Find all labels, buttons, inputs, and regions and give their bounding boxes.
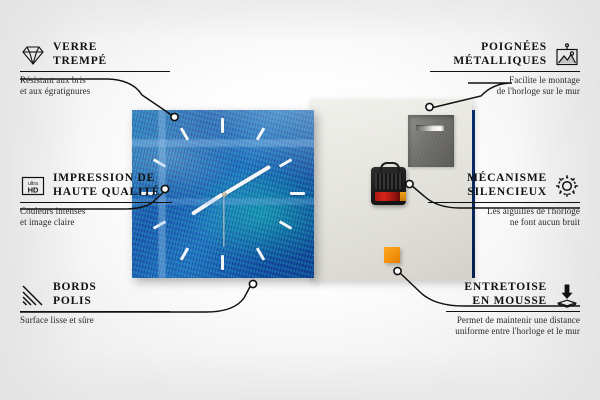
gear-icon [554, 173, 580, 199]
callout-verre-trempe[interactable]: VERRE TREMPÉ Résistant aux bris et aux é… [20, 41, 170, 96]
callout-title-line: SILENCIEUX [467, 186, 547, 198]
callout-title-line: MÉCANISME [467, 172, 547, 184]
callout-subtitle-line: Surface lisse et sûre [20, 315, 94, 325]
callout-subtitle-line: ne font aucun bruit [510, 217, 580, 227]
callout-subtitle-line: et image claire [20, 217, 74, 227]
clock-hands-hub [222, 192, 227, 197]
callout-title-line: VERRE [53, 41, 97, 53]
callout-title-line: MÉTALLIQUES [453, 55, 547, 67]
callout-title-line: EN MOUSSE [472, 295, 547, 307]
callout-title-line: BORDS [53, 281, 97, 293]
aa-battery [375, 192, 401, 201]
clock-tick [221, 118, 224, 133]
clock-tick [180, 127, 190, 141]
mechanism-body-detail [375, 173, 402, 189]
callout-divider [428, 202, 580, 203]
product-photo [132, 99, 472, 281]
callout-title-line: POIGNÉES [481, 41, 547, 53]
callout-poignees-metalliques[interactable]: POIGNÉES MÉTALLIQUES Facilite le montage… [430, 41, 580, 96]
clock-tick [221, 255, 224, 270]
callout-divider [20, 311, 170, 312]
callout-divider [446, 311, 580, 312]
infographic-canvas: VERRE TREMPÉ Résistant aux bris et aux é… [0, 0, 600, 400]
callout-subtitle-line: Couleurs intenses [20, 206, 85, 216]
callout-subtitle-line: Facilite le montage [509, 75, 580, 85]
callout-subtitle-line: et aux égratignures [20, 86, 90, 96]
wall-frame-hanger-icon [554, 42, 580, 68]
callout-title-line: IMPRESSION DE [53, 172, 155, 184]
battery-terminal [400, 192, 406, 201]
callout-divider [20, 202, 172, 203]
clock-hour-hand [191, 192, 224, 216]
callout-title-line: TREMPÉ [53, 55, 107, 67]
callout-mecanisme-silencieux[interactable]: MÉCANISME SILENCIEUX Les aiguilles de l'… [428, 172, 580, 227]
clock-tick [180, 247, 190, 261]
callout-subtitle-line: Permet de maintenir une distance [457, 315, 580, 325]
clock-tick [279, 158, 293, 168]
callout-divider [20, 71, 170, 72]
callout-bords-polis[interactable]: BORDS POLIS Surface lisse et sûre [20, 281, 170, 326]
callout-title-line: ENTRETOISE [464, 281, 547, 293]
silent-quartz-mechanism [371, 167, 406, 205]
bracket-slot [416, 125, 444, 131]
callout-subtitle-line: Résistant aux bris [20, 75, 86, 85]
arrow-down-pad-icon [554, 282, 580, 308]
callout-subtitle-line: Les aiguilles de l'horloge [487, 206, 580, 216]
clock-minute-hand [222, 165, 270, 196]
clock-tick [279, 220, 293, 230]
clock-tick [256, 127, 266, 141]
svg-text:HD: HD [28, 185, 39, 194]
callout-subtitle-line: uniforme entre l'horloge et le mur [455, 326, 580, 336]
callout-entretoise-en-mousse[interactable]: ENTRETOISE EN MOUSSE Permet de maintenir… [446, 281, 580, 336]
clock-tick [153, 158, 167, 168]
polished-edges-icon [20, 282, 46, 308]
mechanism-hook [380, 162, 400, 173]
callout-impression-haute-qualite[interactable]: ultra HD IMPRESSION DE HAUTE QUALITÉ Cou… [20, 172, 172, 227]
foam-spacer [384, 247, 400, 263]
callout-title-line: HAUTE QUALITÉ [53, 186, 160, 198]
clock-tick [256, 247, 266, 261]
metal-hanging-bracket [408, 115, 454, 167]
clock-second-hand [223, 194, 224, 247]
callout-subtitle-line: de l'horloge sur le mur [497, 86, 580, 96]
callout-divider [430, 71, 580, 72]
clock-tick [290, 192, 305, 195]
ultra-hd-icon: ultra HD [20, 173, 46, 199]
diamond-icon [20, 42, 46, 68]
callout-title-line: POLIS [53, 295, 92, 307]
